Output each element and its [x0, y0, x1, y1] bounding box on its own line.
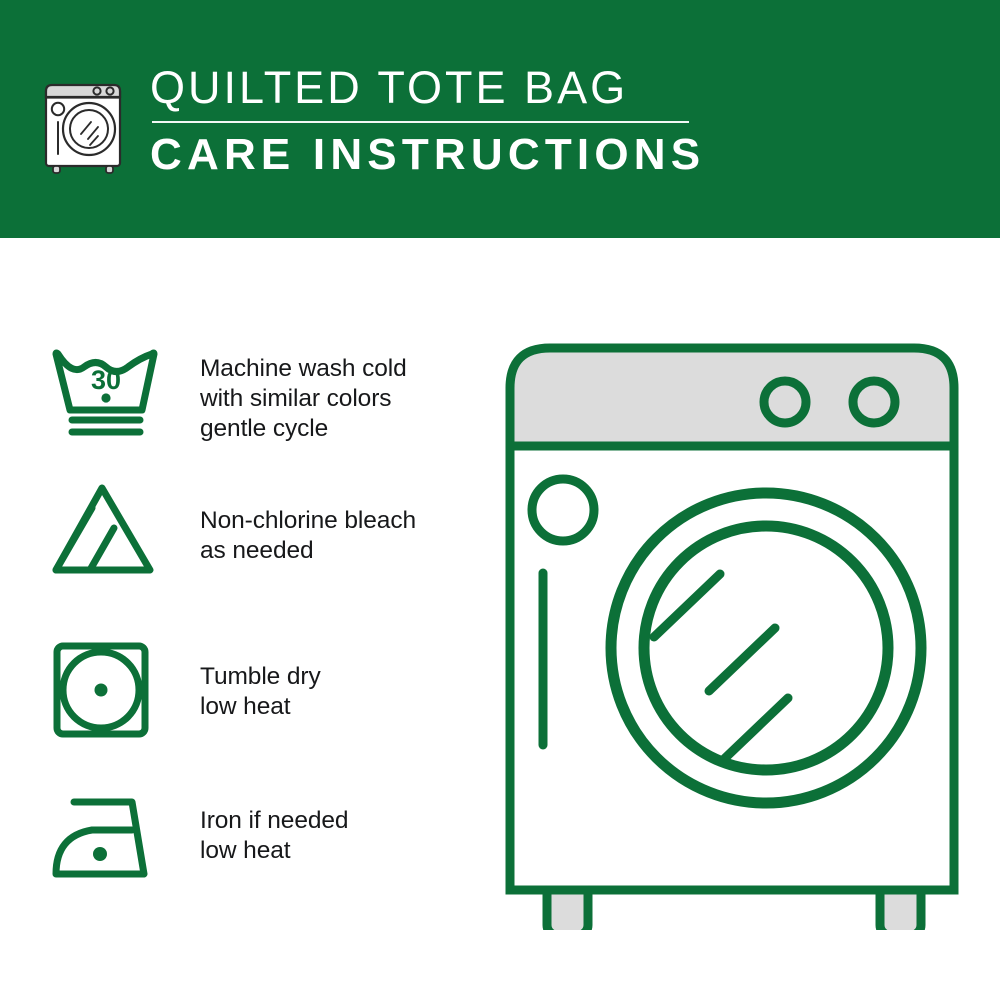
care-row-bleach: Non-chlorine bleach as needed	[50, 478, 416, 582]
wash-temperature-label: 30	[91, 365, 121, 395]
care-text-wash: Machine wash cold with similar colors ge…	[200, 338, 407, 444]
care-instructions-infographic: QUILTED TOTE BAG CARE INSTRUCTIONS 3	[0, 0, 1000, 1000]
care-text-bleach: Non-chlorine bleach as needed	[200, 478, 416, 566]
leg-left	[547, 890, 588, 930]
care-text-line: Iron if needed	[200, 806, 348, 836]
care-text-line: Non-chlorine bleach	[200, 506, 416, 536]
non-chlorine-bleach-triangle-icon	[50, 478, 162, 582]
care-text-line: low heat	[200, 692, 321, 722]
front-load-washing-machine-illustration	[492, 330, 982, 930]
wash-tub-30-icon: 30	[50, 338, 162, 442]
header-title-block: QUILTED TOTE BAG CARE INSTRUCTIONS	[150, 62, 705, 181]
care-row-tumble-dry: Tumble dry low heat	[50, 638, 321, 742]
care-text-line: as needed	[200, 536, 416, 566]
care-text-line: Machine wash cold	[200, 354, 407, 384]
care-row-iron: Iron if needed low heat	[50, 788, 348, 892]
leg-right	[880, 890, 921, 930]
care-text-line: Tumble dry	[200, 662, 321, 692]
care-text-iron: Iron if needed low heat	[200, 788, 348, 866]
washing-machine-icon	[40, 66, 136, 174]
header-banner: QUILTED TOTE BAG CARE INSTRUCTIONS	[0, 0, 1000, 238]
header-content: QUILTED TOTE BAG CARE INSTRUCTIONS	[40, 62, 705, 181]
page-title: QUILTED TOTE BAG	[150, 62, 705, 114]
care-row-wash: 30 Machine wash cold with similar colors…	[50, 338, 407, 444]
care-instruction-list: 30 Machine wash cold with similar colors…	[0, 238, 480, 1000]
care-text-line: low heat	[200, 836, 348, 866]
tumble-dry-low-icon	[50, 638, 162, 742]
page-subtitle: CARE INSTRUCTIONS	[150, 129, 705, 181]
control-panel	[510, 348, 954, 446]
care-text-line: with similar colors	[200, 384, 407, 414]
care-text-tumble-dry: Tumble dry low heat	[200, 638, 321, 722]
iron-low-heat-icon	[50, 788, 162, 892]
care-text-line: gentle cycle	[200, 414, 407, 444]
title-divider	[152, 121, 689, 123]
